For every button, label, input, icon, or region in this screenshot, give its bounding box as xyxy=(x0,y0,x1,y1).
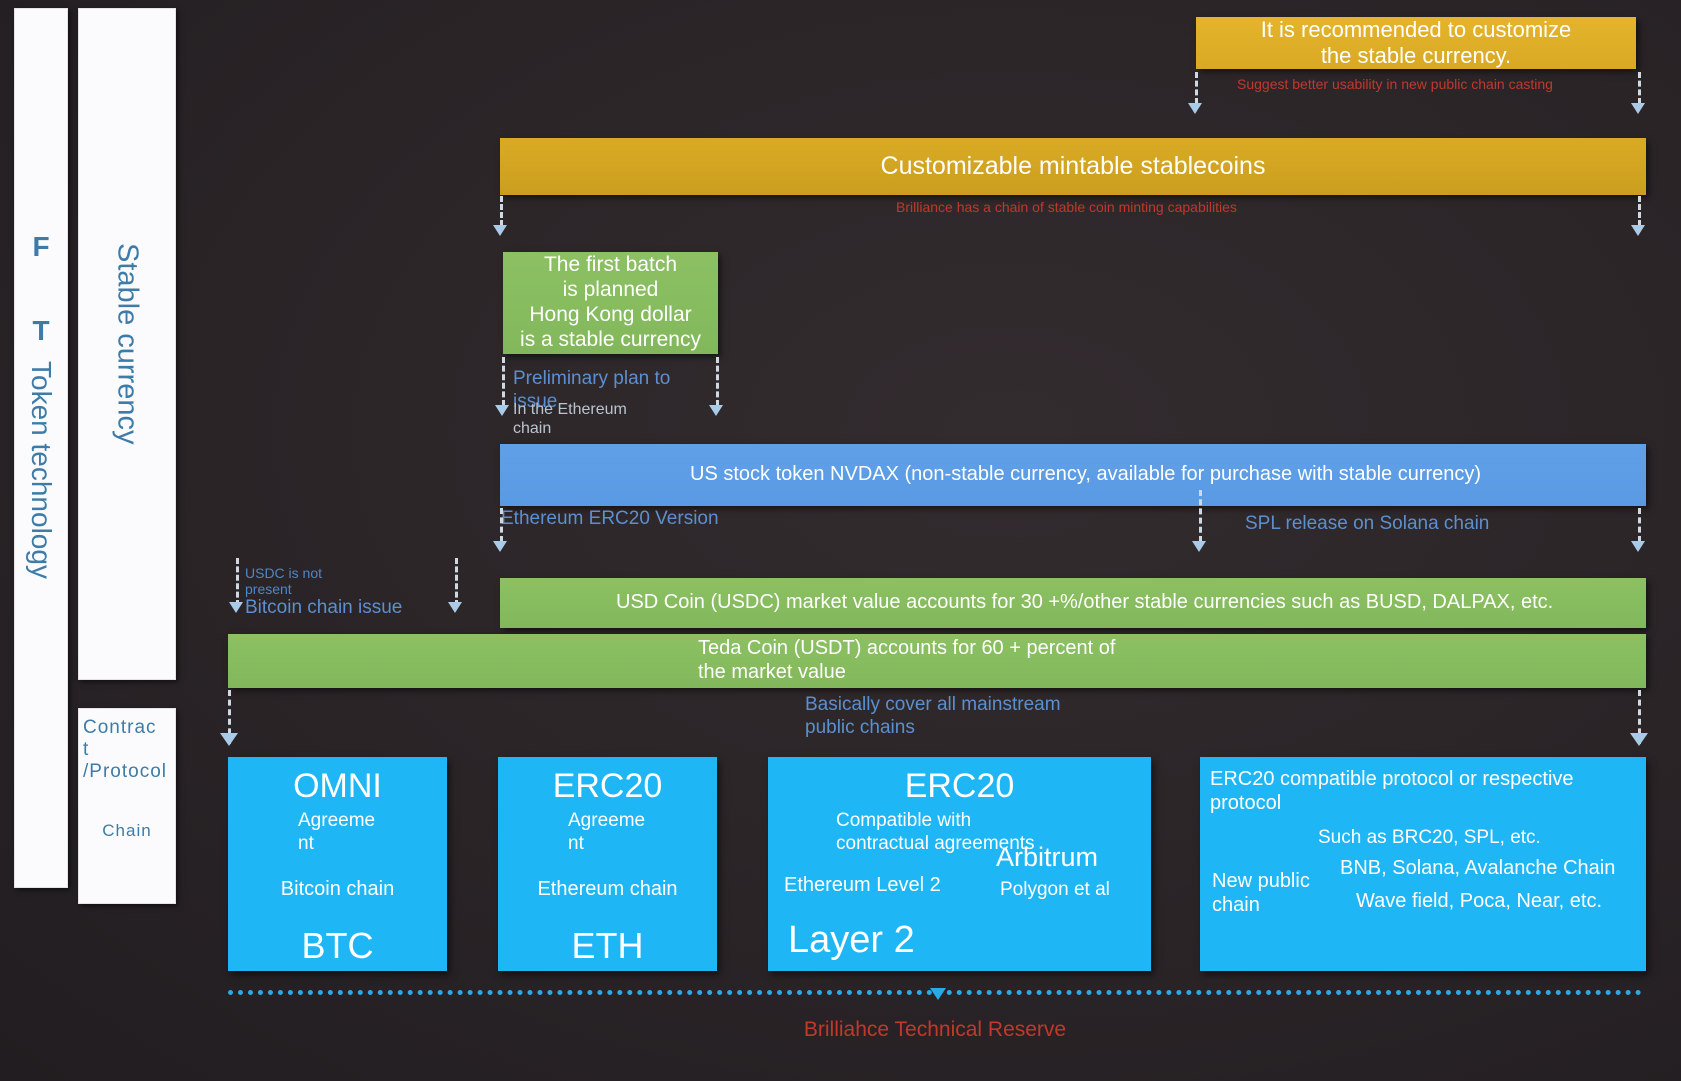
chain-box-erc20-eth[interactable]: ERC20 Agreeme nt Ethereum chain ETH xyxy=(498,757,717,971)
connector-nvdax-mid xyxy=(1199,490,1202,542)
note-in-ethereum-chain: In the Ethereum chain xyxy=(513,400,663,438)
arrow-firstbatch-left xyxy=(495,405,509,416)
omni-symbol: BTC xyxy=(236,925,439,967)
note-ethereum-erc20-version: Ethereum ERC20 Version xyxy=(501,508,719,531)
erc20-eth-subtitle: Agreeme nt xyxy=(506,810,709,856)
bar-first-batch-hkd: The first batch is planned Hong Kong dol… xyxy=(503,252,718,354)
new-public-chain-list-2: Wave field, Poca, Near, etc. xyxy=(1356,890,1602,913)
arrow-usdt-right xyxy=(1630,733,1648,746)
arrow-recommend-right xyxy=(1631,103,1645,114)
note-cover-mainstream-chains: Basically cover all mainstream public ch… xyxy=(805,694,1105,740)
new-public-chain-label: New public chain xyxy=(1212,869,1310,917)
arrow-firstbatch-right xyxy=(709,405,723,416)
note-spl-solana: SPL release on Solana chain xyxy=(1245,513,1489,536)
bar-usdt-market: Teda Coin (USDT) accounts for 60 + perce… xyxy=(228,634,1646,688)
erc20-eth-chain-label: Ethereum chain xyxy=(506,878,709,901)
rail-label-token-technology: Token technology xyxy=(25,361,57,579)
rail-contract-protocol-chain: Contrac t /Protocol Chain xyxy=(78,708,176,904)
arrow-mintable-right xyxy=(1631,225,1645,236)
new-public-chain-subtitle: Such as BRC20, SPL, etc. xyxy=(1210,827,1636,849)
omni-chain-label: Bitcoin chain xyxy=(236,878,439,901)
arrow-usdc-farleft xyxy=(229,602,243,613)
rail-stable-currency: Stable currency xyxy=(78,8,176,680)
connector-recommend-right xyxy=(1638,72,1641,104)
erc20-eth-symbol: ETH xyxy=(506,925,709,967)
bar-usdc-market: USD Coin (USDC) market value accounts fo… xyxy=(500,578,1646,628)
note-bitcoin-chain-issue: Bitcoin chain issue xyxy=(245,597,402,620)
connector-recommend-left xyxy=(1195,72,1198,104)
chain-box-new-public-chain[interactable]: ERC20 compatible protocol or respective … xyxy=(1200,757,1646,971)
erc20-layer2-arbitrum: Arbitrum xyxy=(996,842,1098,873)
erc20-layer2-title: ERC20 xyxy=(778,767,1141,806)
omni-subtitle: Agreeme nt xyxy=(236,810,439,856)
erc20-eth-title: ERC20 xyxy=(506,767,709,806)
chain-box-omni[interactable]: OMNI Agreeme nt Bitcoin chain BTC xyxy=(228,757,447,971)
bar-us-stock-token: US stock token NVDAX (non-stable currenc… xyxy=(500,444,1646,506)
connector-mintable-left xyxy=(500,196,503,226)
rail-contract-line3: /Protocol xyxy=(83,761,167,782)
arrow-nvdax-mid xyxy=(1192,541,1206,552)
rail-contract-line1: Contrac xyxy=(83,717,157,738)
new-public-chain-title: ERC20 compatible protocol or respective … xyxy=(1210,767,1636,815)
connector-mintable-right xyxy=(1638,196,1641,226)
rail-label-stable-currency: Stable currency xyxy=(111,243,144,445)
connector-firstbatch-right xyxy=(716,357,719,406)
bar-recommend-customize: It is recommended to customize the stabl… xyxy=(1196,17,1636,69)
arrow-usdt-left xyxy=(220,733,238,746)
arrow-nvdax-left xyxy=(493,541,507,552)
erc20-layer2-polygon: Polygon et al xyxy=(1000,879,1110,901)
rail-letter-t: T xyxy=(32,315,49,347)
connector-usdc-farleft xyxy=(236,558,239,606)
omni-title: OMNI xyxy=(236,767,439,806)
reserve-label: Brilliahce Technical Reserve xyxy=(228,1018,1642,1042)
new-public-chain-list-1: BNB, Solana, Avalanche Chain xyxy=(1340,857,1615,880)
arrow-mintable-left xyxy=(493,225,507,236)
reserve-arrow xyxy=(930,988,946,1000)
bar-customizable-mintable: Customizable mintable stablecoins xyxy=(500,138,1646,195)
arrow-recommend-left xyxy=(1188,103,1202,114)
note-customizable-mintable: Brilliance has a chain of stable coin mi… xyxy=(896,199,1416,217)
rail-chain-label: Chain xyxy=(83,821,171,841)
erc20-layer2-symbol: Layer 2 xyxy=(778,919,1141,962)
arrow-nvdax-right xyxy=(1631,541,1645,552)
note-recommend-customize: Suggest better usability in new public c… xyxy=(1237,76,1582,94)
connector-nvdax-left xyxy=(500,508,503,542)
note-usdc-not-present: USDC is not present xyxy=(245,565,355,597)
connector-usdc-left xyxy=(455,558,458,606)
chain-box-erc20-layer2[interactable]: ERC20 Compatible with contractual agreem… xyxy=(768,757,1151,971)
rail-contract-line2: t xyxy=(83,739,89,760)
connector-nvdax-right xyxy=(1638,508,1641,542)
diagram-canvas: F T Token technology Stable currency Con… xyxy=(0,0,1681,1081)
arrow-usdc-left xyxy=(448,602,462,613)
connector-firstbatch-left xyxy=(502,357,505,406)
rail-letter-f: F xyxy=(32,231,49,263)
rail-token-technology: F T Token technology xyxy=(14,8,68,888)
